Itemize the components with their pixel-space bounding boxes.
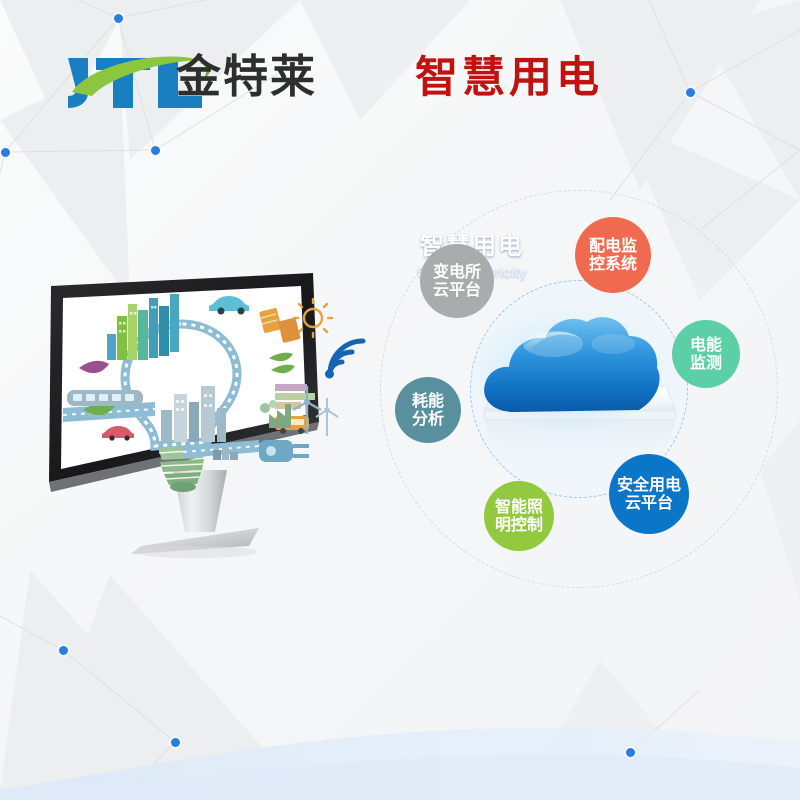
- page-title: 智慧用电: [415, 48, 603, 108]
- bubble-anquan-yongdian-yunpingtai[interactable]: 安全用电 云平台: [609, 454, 689, 534]
- poster-canvas: 金特莱 智慧用电: [0, 0, 800, 800]
- bubble-biandiansuo-yunpingtai[interactable]: 变电所 云平台: [420, 244, 494, 318]
- bubble-line: 控系统: [589, 255, 637, 273]
- bubble-zhineng-zhaoming-kongzhi[interactable]: 智能照 明控制: [484, 481, 554, 551]
- bubble-line: 耗能: [412, 392, 444, 410]
- bubble-line: 分析: [412, 410, 444, 428]
- mesh-node-dot: [171, 738, 180, 747]
- bubble-line: 云平台: [433, 281, 481, 299]
- bubble-line: 云平台: [617, 494, 681, 512]
- bubble-diann大-jiance[interactable]: 电能 监测: [672, 320, 740, 388]
- mesh-node-dot: [59, 646, 68, 655]
- bubble-line: 电能: [690, 336, 722, 354]
- bubble-line: 配电监: [589, 237, 637, 255]
- bubble-line: 变电所: [433, 263, 481, 281]
- bubble-line: 智能照: [495, 498, 543, 516]
- header: 金特莱 智慧用电: [0, 0, 800, 150]
- smart-electricity-diagram: 智慧用电 Smart electricity 变电所 云平台 配电监 控系统 电…: [372, 182, 788, 598]
- bubble-peidian-jiankong-xitong[interactable]: 配电监 控系统: [575, 217, 651, 293]
- mesh-node-dot: [626, 748, 635, 757]
- bubble-line: 监测: [690, 354, 722, 372]
- bubble-haoneng-fenxi[interactable]: 耗能 分析: [395, 377, 461, 443]
- cloud-shape: [467, 300, 667, 450]
- desktop-monitor: [45, 270, 345, 560]
- bubble-line: 明控制: [495, 516, 543, 534]
- wifi-signal-icon: [316, 328, 378, 390]
- brand-name: 金特莱: [176, 46, 317, 108]
- bubble-line: 安全用电: [617, 476, 681, 494]
